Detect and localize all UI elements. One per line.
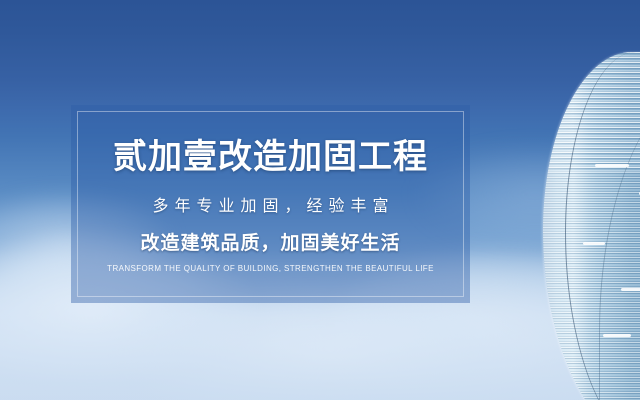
hero-banner: 贰加壹改造加固工程 多年专业加固，经验丰富 改造建筑品质，加固美好生活 TRAN… xyxy=(0,0,640,400)
skyscraper-body xyxy=(543,52,640,400)
skyscraper-window-glint xyxy=(595,164,629,167)
slogan-text: 改造建筑品质，加固美好生活 xyxy=(140,228,400,255)
page-title: 贰加壹改造加固工程 xyxy=(113,139,428,176)
hero-text-panel: 贰加壹改造加固工程 多年专业加固，经验丰富 改造建筑品质，加固美好生活 TRAN… xyxy=(71,105,470,303)
panel-content: 贰加壹改造加固工程 多年专业加固，经验丰富 改造建筑品质，加固美好生活 TRAN… xyxy=(77,111,464,297)
skyscraper-image xyxy=(500,0,640,400)
subtitle-text: 多年专业加固，经验丰富 xyxy=(146,192,394,216)
skyscraper-window-glint xyxy=(621,288,640,291)
skyscraper-window-glint xyxy=(583,242,605,245)
skyscraper-window-glint xyxy=(603,334,631,337)
english-slogan-text: TRANSFORM THE QUALITY OF BUILDING, STREN… xyxy=(107,264,434,273)
